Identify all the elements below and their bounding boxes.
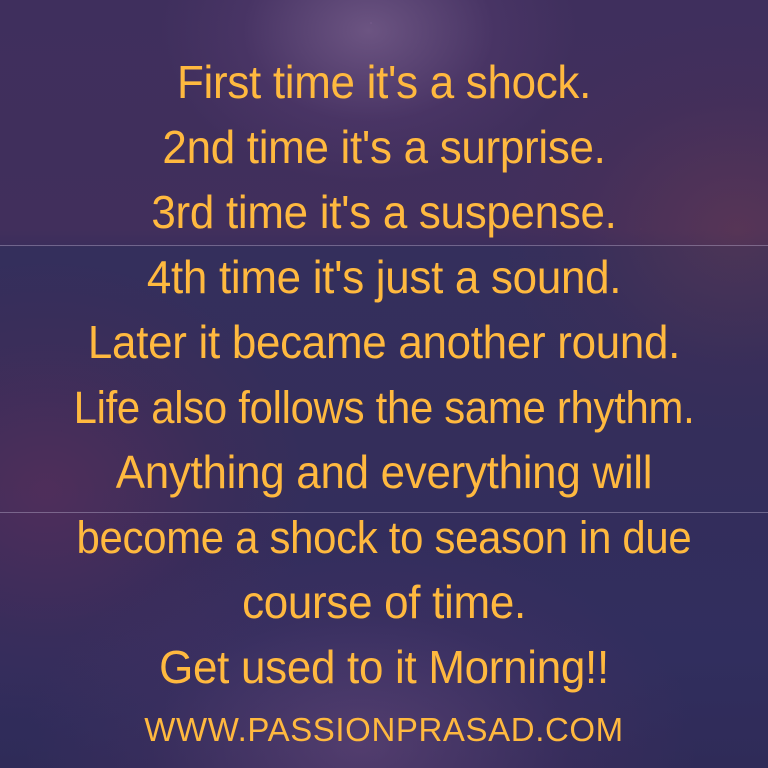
quote-poster: First time it's a shock. 2nd time it's a… (0, 0, 768, 768)
website-credit: WWW.PASSIONPRASAD.COM (0, 708, 768, 752)
quote-line-7: Anything and everything will (17, 440, 750, 505)
quote-line-3: 3rd time it's a suspense. (17, 180, 750, 245)
quote-line-4: 4th time it's just a sound. (17, 245, 750, 310)
quote-text-block: First time it's a shock. 2nd time it's a… (0, 0, 768, 768)
quote-line-1: First time it's a shock. (17, 50, 750, 115)
quote-line-9: course of time. (17, 570, 750, 635)
quote-line-2: 2nd time it's a surprise. (17, 115, 750, 180)
quote-line-8: become a shock to season in due (27, 505, 741, 570)
quote-line-10: Get used to it Morning!! (17, 635, 750, 700)
quote-line-6: Life also follows the same rhythm. (27, 375, 741, 440)
quote-line-5: Later it became another round. (17, 310, 750, 375)
